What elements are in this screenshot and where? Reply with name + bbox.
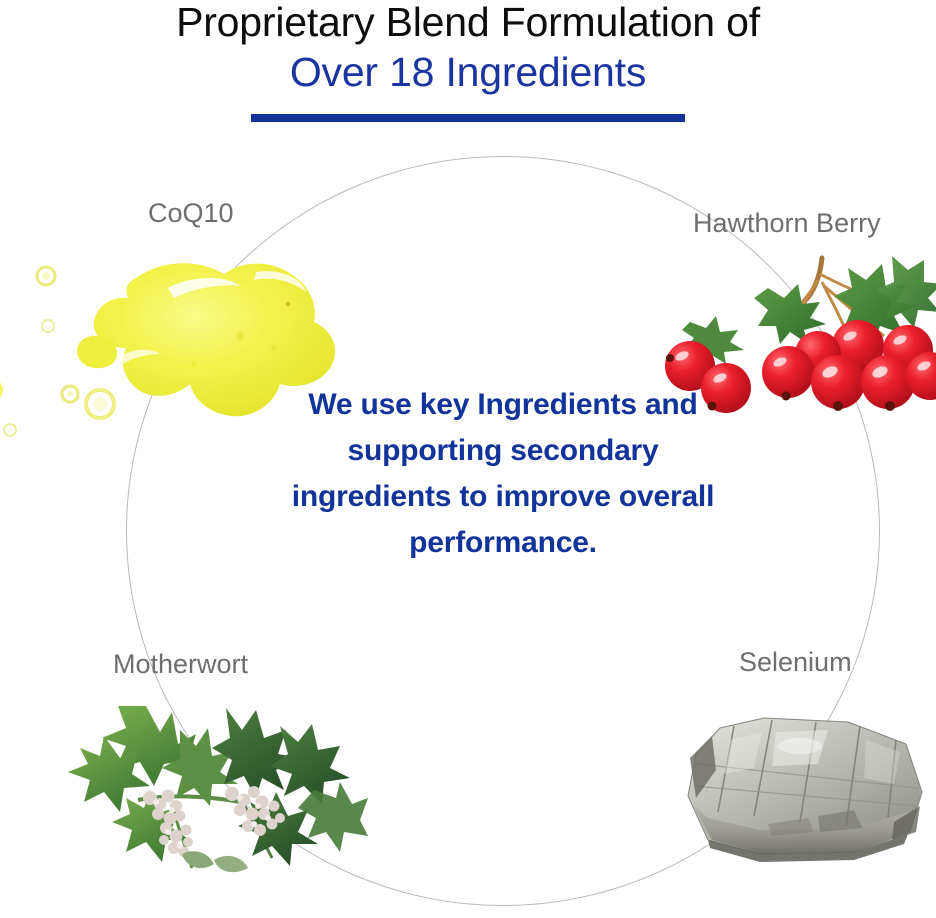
hawthorn-berry-image — [652, 240, 936, 428]
ingredient-label-hawthorn-berry: Hawthorn Berry — [693, 207, 881, 239]
ingredient-label-selenium: Selenium — [739, 646, 852, 678]
ingredient-label-coq10: CoQ10 — [148, 197, 234, 229]
heading-line-primary: Proprietary Blend Formulation of — [0, 0, 936, 46]
ingredient-label-motherwort: Motherwort — [113, 648, 248, 680]
selenium-mineral-image — [668, 700, 936, 876]
motherwort-plant-image — [68, 690, 368, 878]
heading-block: Proprietary Blend Formulation of Over 18… — [0, 0, 936, 122]
heading-line-highlight: Over 18 Ingredients — [0, 48, 936, 96]
heading-underline-rule — [251, 114, 685, 122]
oil-droplet-image — [0, 244, 360, 444]
ingredients-infographic: Proprietary Blend Formulation of Over 18… — [0, 0, 936, 918]
